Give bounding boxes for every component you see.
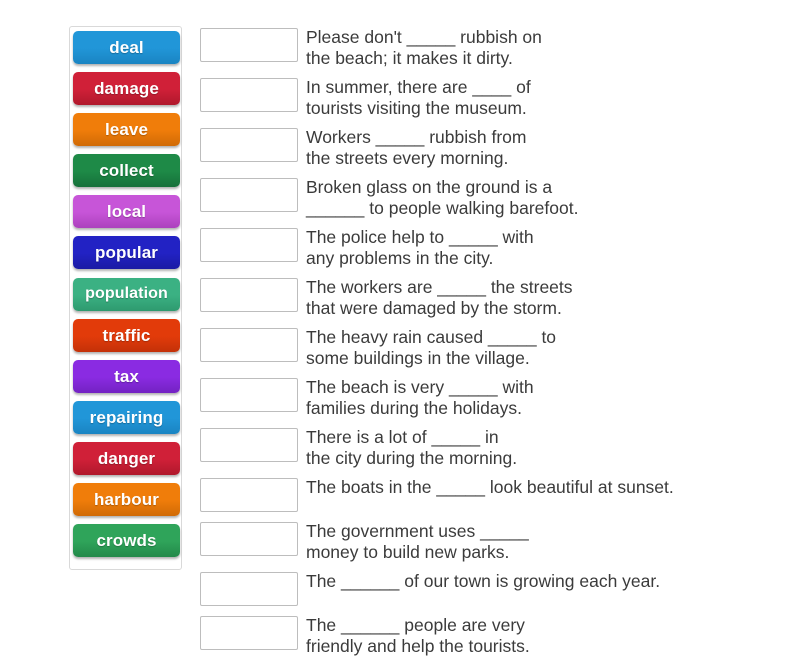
word-tile-label: traffic — [103, 327, 151, 344]
word-tile-label: local — [107, 203, 146, 220]
answer-drop-box[interactable] — [200, 572, 298, 606]
word-tile-leave[interactable]: leave — [73, 113, 180, 146]
answer-drop-box[interactable] — [200, 522, 298, 556]
question-sentence: The police help to _____ with any proble… — [306, 226, 534, 268]
question-sentence: The boats in the _____ look beautiful at… — [306, 476, 674, 498]
word-tile-label: damage — [94, 80, 159, 97]
question-sentence: The workers are _____ the streets that w… — [306, 276, 573, 318]
question-row: The ______ of our town is growing each y… — [200, 570, 760, 606]
word-tile-tax[interactable]: tax — [73, 360, 180, 393]
question-row: There is a lot of _____ in the city duri… — [200, 426, 760, 468]
question-row: The heavy rain caused _____ to some buil… — [200, 326, 760, 368]
answer-drop-box[interactable] — [200, 616, 298, 650]
question-sentence: Please don't _____ rubbish on the beach;… — [306, 26, 542, 68]
word-tile-crowds[interactable]: crowds — [73, 524, 180, 557]
word-tile-local[interactable]: local — [73, 195, 180, 228]
word-tile-population[interactable]: population — [73, 278, 180, 311]
question-row: Workers _____ rubbish from the streets e… — [200, 126, 760, 168]
answer-drop-box[interactable] — [200, 28, 298, 62]
question-sentence: The government uses _____ money to build… — [306, 520, 529, 562]
word-tile-label: popular — [95, 244, 158, 261]
question-row: The workers are _____ the streets that w… — [200, 276, 760, 318]
word-tile-label: harbour — [94, 491, 159, 508]
word-tile-label: repairing — [90, 409, 164, 426]
question-row: Broken glass on the ground is a ______ t… — [200, 176, 760, 218]
question-sentence: The ______ of our town is growing each y… — [306, 570, 660, 592]
answer-drop-box[interactable] — [200, 428, 298, 462]
word-tile-label: danger — [98, 450, 155, 467]
word-tile-label: collect — [99, 162, 154, 179]
question-row: Please don't _____ rubbish on the beach;… — [200, 26, 760, 68]
answer-drop-box[interactable] — [200, 328, 298, 362]
word-tile-label: crowds — [96, 532, 156, 549]
word-tile-label: tax — [114, 368, 139, 385]
question-sentence: In summer, there are ____ of tourists vi… — [306, 76, 531, 118]
answer-drop-box[interactable] — [200, 278, 298, 312]
question-sentence: Workers _____ rubbish from the streets e… — [306, 126, 526, 168]
question-row: The government uses _____ money to build… — [200, 520, 760, 562]
question-sentence: The beach is very _____ with families du… — [306, 376, 534, 418]
word-tile-collect[interactable]: collect — [73, 154, 180, 187]
word-tile-traffic[interactable]: traffic — [73, 319, 180, 352]
answer-drop-box[interactable] — [200, 378, 298, 412]
answer-drop-box[interactable] — [200, 478, 298, 512]
question-sentence: There is a lot of _____ in the city duri… — [306, 426, 517, 468]
word-tile-label: population — [85, 286, 168, 302]
word-tile-popular[interactable]: popular — [73, 236, 180, 269]
word-tile-label: leave — [105, 121, 148, 138]
word-tile-damage[interactable]: damage — [73, 72, 180, 105]
answer-drop-box[interactable] — [200, 78, 298, 112]
word-tile-deal[interactable]: deal — [73, 31, 180, 64]
question-row: The beach is very _____ with families du… — [200, 376, 760, 418]
question-sentence: The heavy rain caused _____ to some buil… — [306, 326, 556, 368]
question-row: The police help to _____ with any proble… — [200, 226, 760, 268]
question-row: The ______ people are very friendly and … — [200, 614, 760, 656]
word-tile-harbour[interactable]: harbour — [73, 483, 180, 516]
question-row: In summer, there are ____ of tourists vi… — [200, 76, 760, 118]
question-sentence: The ______ people are very friendly and … — [306, 614, 530, 656]
question-sentence: Broken glass on the ground is a ______ t… — [306, 176, 578, 218]
answer-drop-box[interactable] — [200, 178, 298, 212]
word-tile-repairing[interactable]: repairing — [73, 401, 180, 434]
word-bank: dealdamageleavecollectlocalpopularpopula… — [69, 26, 182, 570]
word-tile-label: deal — [109, 39, 143, 56]
question-row: The boats in the _____ look beautiful at… — [200, 476, 760, 512]
word-tile-danger[interactable]: danger — [73, 442, 180, 475]
question-list: Please don't _____ rubbish on the beach;… — [200, 26, 760, 664]
answer-drop-box[interactable] — [200, 228, 298, 262]
answer-drop-box[interactable] — [200, 128, 298, 162]
